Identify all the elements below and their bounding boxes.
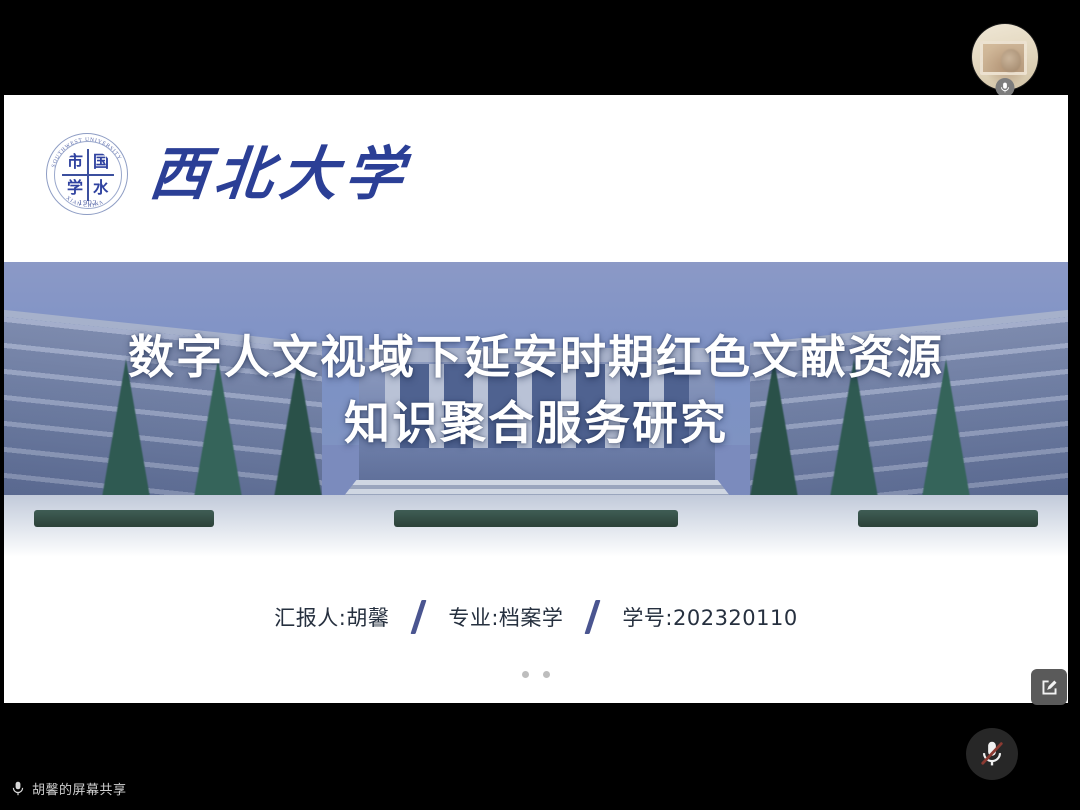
pencil-icon: [1039, 677, 1060, 698]
byline-major: 专业:档案学: [434, 602, 577, 632]
university-wordmark: 西北大学: [147, 145, 413, 203]
meeting-top-bar: 胡馨的屏幕共享: [0, 0, 1080, 95]
slide-title: 数字人文视域下延安时期红色文献资源 知识聚合服务研究: [4, 324, 1068, 456]
byline-presenter: 汇报人:胡馨: [260, 602, 403, 632]
seal-year: 1902: [47, 198, 129, 207]
screen-share-status-text: 胡馨的屏幕共享: [32, 779, 127, 798]
shared-slide[interactable]: SOUTHWEST UNIVERSITY XIAN CHINA 市 国 学 水 …: [4, 95, 1068, 703]
photo-hedge: [34, 510, 214, 527]
avatar-face: [1001, 49, 1021, 71]
slide-title-line-1: 数字人文视域下延安时期红色文献资源: [128, 330, 944, 384]
screen-share-status: 胡馨的屏幕共享: [12, 779, 127, 798]
microphone-muted-icon: [979, 740, 1005, 768]
slide-byline: 汇报人:胡馨 专业:档案学 学号:202320110: [4, 600, 1068, 634]
annotate-button[interactable]: [1031, 669, 1067, 705]
page-dot: [522, 671, 529, 678]
photo-hedge: [508, 510, 678, 527]
participant-avatar-wrap[interactable]: [972, 24, 1038, 90]
screen-share-viewer: 胡馨的屏幕共享 SOUTHWEST UNIVERSITY XIAN CHINA: [0, 0, 1080, 810]
university-seal-icon: SOUTHWEST UNIVERSITY XIAN CHINA 市 国 学 水 …: [46, 133, 128, 215]
photo-hedge: [858, 510, 1038, 527]
byline-student-id: 学号:202320110: [608, 602, 811, 632]
byline-separator-icon: [411, 600, 427, 634]
microphone-icon: [12, 781, 24, 796]
slide-page-indicator: [4, 671, 1068, 678]
microphone-mute-button[interactable]: [966, 728, 1018, 780]
byline-separator-icon: [585, 600, 601, 634]
university-logo: SOUTHWEST UNIVERSITY XIAN CHINA 市 国 学 水 …: [46, 133, 410, 215]
page-dot: [543, 671, 550, 678]
slide-hero-photo: 数字人文视域下延安时期红色文献资源 知识聚合服务研究: [4, 262, 1068, 557]
slide-logo-band: SOUTHWEST UNIVERSITY XIAN CHINA 市 国 学 水 …: [4, 95, 1068, 262]
slide-title-line-2: 知识聚合服务研究: [4, 390, 1068, 456]
